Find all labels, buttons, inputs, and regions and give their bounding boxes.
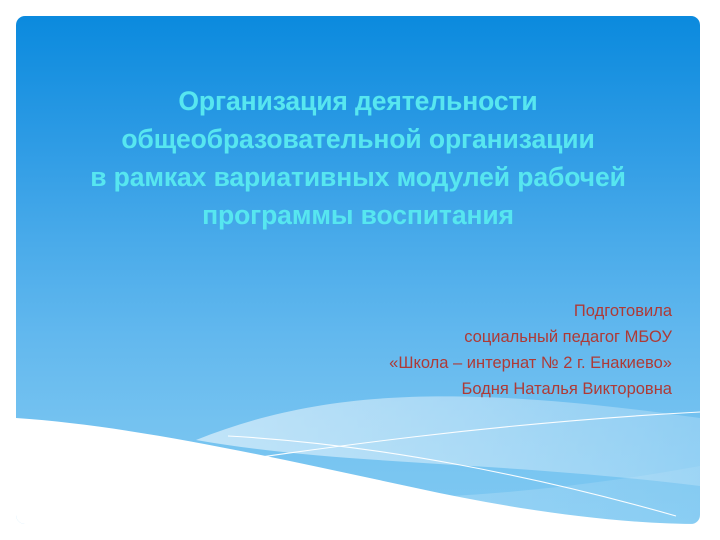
presentation-slide: Организация деятельности общеобразовател… (16, 16, 700, 524)
subtitle-line-role: социальный педагог МБОУ (216, 324, 672, 350)
subtitle-line-school: «Школа – интернат № 2 г. Енакиево» (216, 350, 672, 376)
subtitle-line-prepared-by: Подготовила (216, 298, 672, 324)
wave-hairline-descending (228, 436, 676, 516)
title-line-1: Организация деятельности (52, 82, 664, 120)
wave-hairline-ascending (74, 412, 700, 484)
title-line-2: общеобразовательной организации (52, 120, 664, 158)
slide-title: Организация деятельности общеобразовател… (52, 82, 664, 234)
wave-overlay-band-1 (196, 396, 700, 486)
subtitle-line-author: Бодня Наталья Викторовна (216, 376, 672, 402)
title-line-3: в рамках вариативных модулей рабочей (52, 158, 664, 196)
wave-overlay-band-2 (76, 466, 700, 524)
title-line-4: программы воспитания (52, 196, 664, 234)
slide-canvas: Организация деятельности общеобразовател… (0, 0, 720, 540)
slide-subtitle: Подготовила социальный педагог МБОУ «Шко… (216, 298, 672, 402)
wave-white-main (16, 418, 700, 524)
